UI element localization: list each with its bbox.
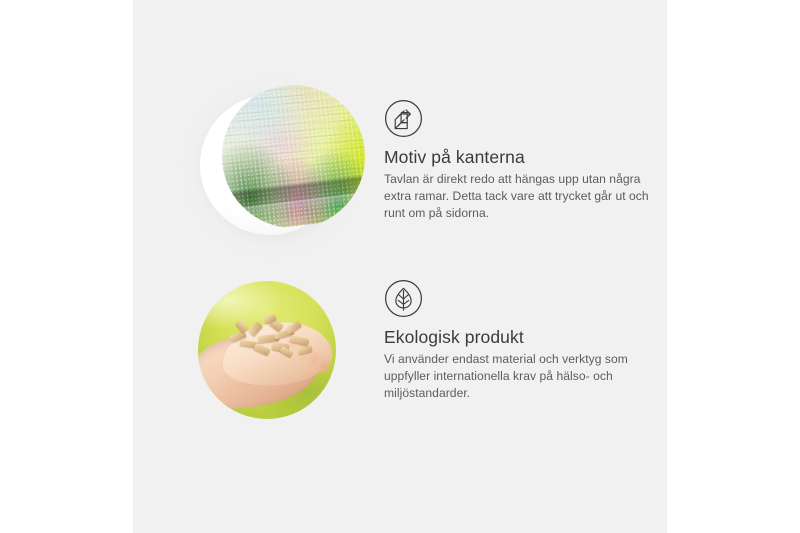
feature-description: Tavlan är direkt redo att hängas upp uta…: [384, 171, 654, 223]
photo-circle: [198, 281, 336, 419]
feature-block-motiv-pa-kanterna: Motiv på kanterna Tavlan är direkt redo …: [133, 85, 667, 255]
canvas-wrapped-edges-icon: [384, 99, 423, 138]
hands-holding-wood-chips-photo: [195, 265, 365, 435]
feature-2-text-column: Ekologisk produkt Vi använder endast mat…: [384, 279, 654, 403]
feature-1-text-column: Motiv på kanterna Tavlan är direkt redo …: [384, 99, 654, 223]
canvas-print-on-white-plate-photo: [195, 85, 365, 255]
feature-title: Ekologisk produkt: [384, 326, 654, 348]
feature-block-ekologisk-produkt: Ekologisk produkt Vi använder endast mat…: [133, 265, 667, 435]
wood-chips-pile: [228, 315, 316, 361]
canvas-image-wrapper: [195, 85, 365, 255]
product-feature-banner: Motiv på kanterna Tavlan är direkt redo …: [0, 0, 800, 533]
canvas-clip: [222, 85, 365, 228]
feature-title: Motiv på kanterna: [384, 146, 654, 168]
leaf-icon: [384, 279, 423, 318]
feature-description: Vi använder endast material och verktyg …: [384, 351, 654, 403]
